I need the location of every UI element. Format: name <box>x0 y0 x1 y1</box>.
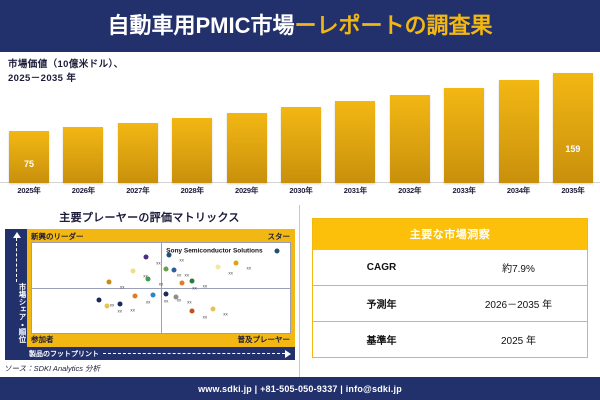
scatter-point-label: xx <box>185 273 190 278</box>
scatter-point <box>189 278 194 283</box>
page-title-primary: 自動車用PMIC市場 <box>107 13 294 38</box>
scatter-point-label: xx <box>130 307 135 312</box>
key-insights-panel: 主要な市場洞察 CAGR約7.9%予測年2026－2035 年基準年2025 年 <box>300 205 600 377</box>
chart-bar <box>172 118 212 183</box>
key-insight-value: 2026－2035 年 <box>450 296 587 311</box>
scatter-point <box>179 280 184 285</box>
key-insights-header: 主要な市場洞察 <box>313 219 587 250</box>
key-insight-row: 基準年2025 年 <box>313 321 587 357</box>
scatter-point <box>233 260 238 265</box>
scatter-point <box>166 252 171 257</box>
quadrant-label-pervasive-players: 普及プレーヤー <box>238 334 291 345</box>
x-tick-label: 2026年 <box>62 185 104 201</box>
bar-value-label: 75 <box>9 159 49 169</box>
key-insight-value: 2025 年 <box>450 332 587 347</box>
scatter-point-label: xx <box>156 260 161 265</box>
matrix-box: 市場シェア・順位 新興のリーダー スター 参加者 普及プレーヤー Sony Se… <box>5 229 295 347</box>
x-tick-label: 2031年 <box>334 185 376 201</box>
x-tick-label: 2027年 <box>117 185 159 201</box>
key-insight-label: 予測年 <box>313 296 450 311</box>
key-insight-label: 基準年 <box>313 332 450 347</box>
scatter-point <box>133 294 138 299</box>
scatter-point-label: xx <box>159 282 164 287</box>
x-tick-label: 2034年 <box>498 185 540 201</box>
scatter-point <box>146 277 151 282</box>
scatter-point <box>215 265 220 270</box>
arrow-up-icon <box>13 232 21 238</box>
highlight-company-marker <box>275 249 280 254</box>
x-tick-label: 2025年 <box>8 185 50 201</box>
arrow-right-icon <box>285 350 291 358</box>
key-insight-row: CAGR約7.9% <box>313 250 587 285</box>
x-axis-dashed-line <box>103 353 285 354</box>
chart-bar: 75 <box>9 131 49 183</box>
matrix-x-axis: 製品のフットプリント <box>5 347 295 360</box>
matrix-scatter-plot: Sony Semiconductor Solutions xxxxxxxxxxx… <box>31 242 291 334</box>
bar-slot <box>62 65 104 183</box>
bar-slot <box>443 65 485 183</box>
x-tick-label: 2028年 <box>171 185 213 201</box>
scatter-point-label: xx <box>110 303 115 308</box>
bar-slot <box>171 65 213 183</box>
x-tick-label: 2032年 <box>389 185 431 201</box>
scatter-point <box>164 292 169 297</box>
scatter-point <box>210 306 215 311</box>
scatter-point-label: xx <box>246 266 251 271</box>
scatter-point-label: xx <box>117 309 122 314</box>
matrix-y-axis-label: 市場シェア・順位 <box>6 283 26 343</box>
x-tick-label: 2033年 <box>443 185 485 201</box>
scatter-point-label: xx <box>179 258 184 263</box>
chart-bar <box>281 107 321 183</box>
chart-bar <box>444 88 484 183</box>
bar-slot <box>498 65 540 183</box>
quadrant-label-stars: スター <box>268 231 291 242</box>
market-value-bar-chart: 市場価値（10億米ドル）、 2025－2035 年 75159 2025年202… <box>0 52 600 205</box>
highlight-company-label: Sony Semiconductor Solutions <box>166 248 262 255</box>
bar-slot <box>117 65 159 183</box>
matrix-title: 主要プレーヤーの評価マトリックス <box>0 205 299 225</box>
scatter-point-label: xx <box>223 312 228 317</box>
bottom-panels: 主要プレーヤーの評価マトリックス 市場シェア・順位 新興のリーダー スター 参加… <box>0 205 600 377</box>
x-tick-label: 2035年 <box>552 185 594 201</box>
page-title: 自動車用PMIC市場ーレポートの調査果 <box>107 15 492 37</box>
evaluation-matrix-panel: 主要プレーヤーの評価マトリックス 市場シェア・順位 新興のリーダー スター 参加… <box>0 205 300 377</box>
scatter-point-label: xx <box>146 299 151 304</box>
scatter-point <box>189 309 194 314</box>
bar-slot <box>389 65 431 183</box>
chart-bars: 75159 <box>8 65 594 183</box>
chart-bar: 159 <box>553 73 593 183</box>
scatter-point <box>164 267 169 272</box>
bar-slot <box>226 65 268 183</box>
matrix-y-axis: 市場シェア・順位 <box>5 229 27 347</box>
x-tick-label: 2030年 <box>280 185 322 201</box>
scatter-point <box>104 304 109 309</box>
bar-slot: 159 <box>552 65 594 183</box>
scatter-point <box>151 293 156 298</box>
scatter-point-label: xx <box>187 300 192 305</box>
source-note: ソース：SDKI Analytics 分析 <box>4 363 100 374</box>
chart-bar <box>390 95 430 183</box>
bar-slot <box>334 65 376 183</box>
quadrant-label-participants: 参加者 <box>31 334 54 345</box>
scatter-point <box>97 297 102 302</box>
scatter-point-label: xx <box>203 314 208 319</box>
scatter-point <box>130 268 135 273</box>
key-insight-row: 予測年2026－2035 年 <box>313 285 587 321</box>
page-footer: www.sdki.jp | +81-505-050-9337 | info@sd… <box>0 377 600 400</box>
bar-slot: 75 <box>8 65 50 183</box>
chart-bar <box>499 80 539 183</box>
scatter-point-label: xx <box>228 270 233 275</box>
chart-bar <box>63 127 103 183</box>
scatter-point-label: xx <box>203 284 208 289</box>
page-title-accent: ーレポートの調査果 <box>295 13 493 38</box>
y-axis-dashed-line <box>16 238 17 282</box>
matrix-quadrant-frame: 新興のリーダー スター 参加者 普及プレーヤー Sony Semiconduct… <box>27 229 295 347</box>
scatter-point-label: xx <box>177 272 182 277</box>
scatter-point <box>107 279 112 284</box>
scatter-point <box>171 268 176 273</box>
chart-x-tick-labels: 2025年2026年2027年2028年2029年2030年2031年2032年… <box>8 185 594 201</box>
plot-horizontal-divider <box>32 288 290 289</box>
scatter-point <box>174 295 179 300</box>
key-insights-table: 主要な市場洞察 CAGR約7.9%予測年2026－2035 年基準年2025 年 <box>312 218 588 358</box>
scatter-point-label: xx <box>192 286 197 291</box>
x-tick-label: 2029年 <box>226 185 268 201</box>
key-insights-rows: CAGR約7.9%予測年2026－2035 年基準年2025 年 <box>313 250 587 357</box>
bar-slot <box>280 65 322 183</box>
scatter-point <box>117 302 122 307</box>
page-header: 自動車用PMIC市場ーレポートの調査果 <box>0 0 600 52</box>
chart-bar <box>118 123 158 183</box>
quadrant-label-emerging-leaders: 新興のリーダー <box>31 231 84 242</box>
key-insight-label: CAGR <box>313 262 450 273</box>
chart-bar <box>335 101 375 183</box>
scatter-point <box>143 255 148 260</box>
scatter-point-label: xx <box>164 298 169 303</box>
key-insight-value: 約7.9% <box>450 260 587 275</box>
bar-value-label: 159 <box>553 144 593 154</box>
matrix-x-axis-label: 製品のフットプリント <box>29 349 99 359</box>
chart-bar <box>227 113 267 183</box>
scatter-point-label: xx <box>120 285 125 290</box>
